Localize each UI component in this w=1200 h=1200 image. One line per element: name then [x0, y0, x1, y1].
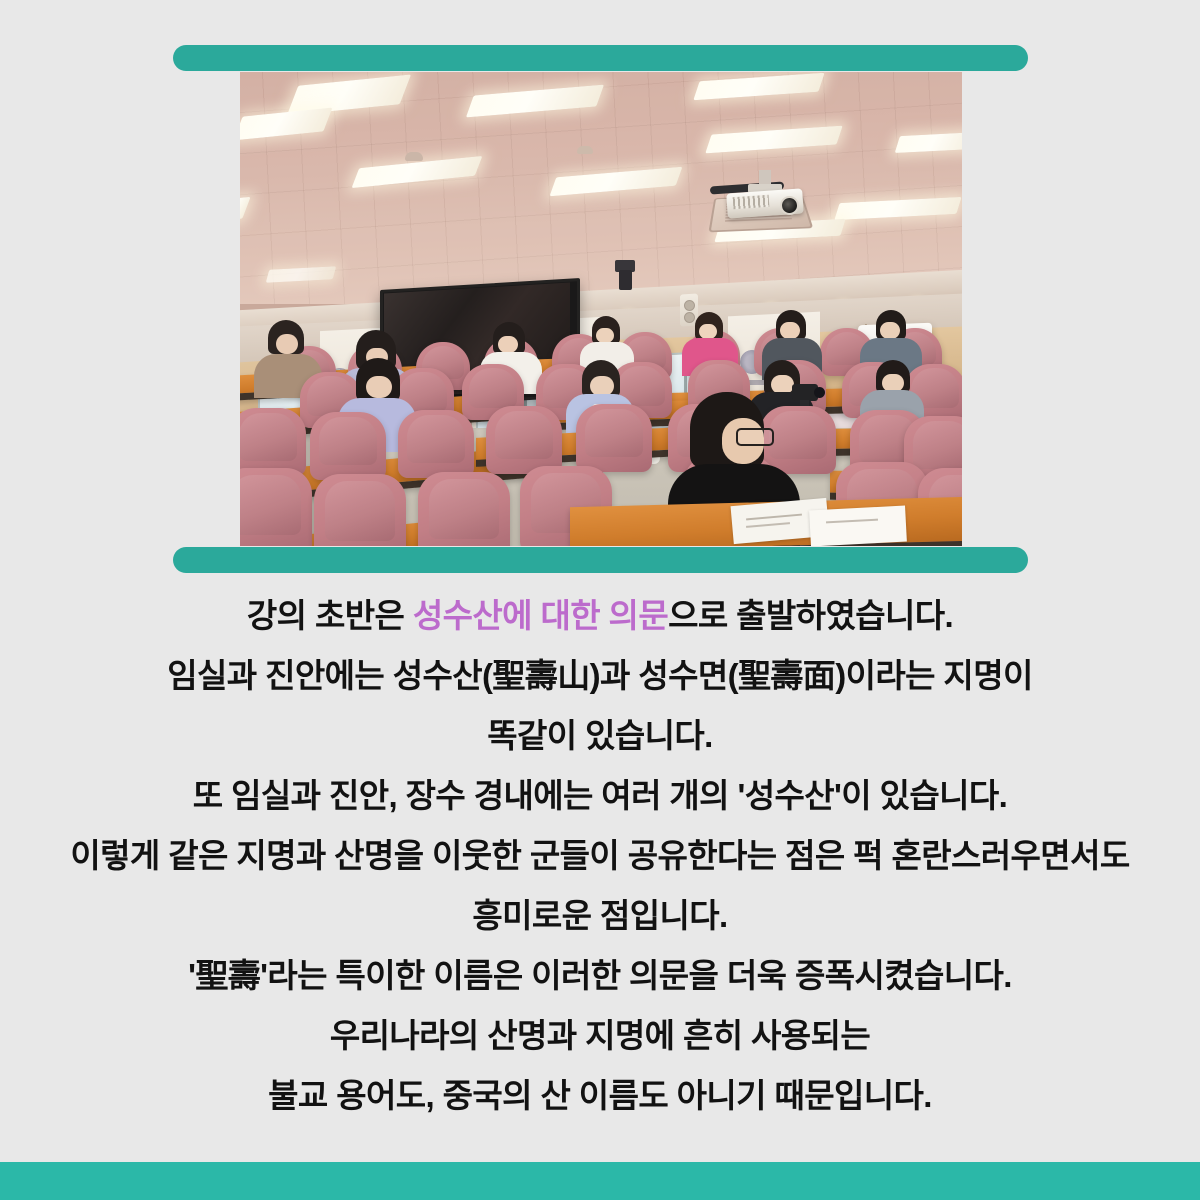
caption-segment: 이렇게 같은 지명과 산명을 이웃한 군들이 공유한다는 점은 퍽 혼란스러우면…	[70, 837, 1129, 874]
caption-line-3: 똑같이 있습니다.	[0, 706, 1200, 766]
chair	[418, 472, 510, 546]
caption-segment: 흥미로운 점입니다.	[472, 897, 727, 934]
caption-line-1: 강의 초반은 성수산에 대한 의문으로 출발하였습니다.	[0, 586, 1200, 646]
speaker-cone-icon	[684, 300, 695, 311]
projector-vent	[733, 195, 770, 209]
chair	[240, 408, 306, 476]
person-face	[780, 322, 800, 339]
caption-segment: 강의 초반은	[247, 597, 413, 634]
person-face	[699, 324, 717, 339]
caption-line-7: '聖壽'라는 특이한 이름은 이러한 의문을 더욱 증폭시켰습니다.	[0, 946, 1200, 1006]
caption-segment: '聖壽'라는 특이한 이름은 이러한 의문을 더욱 증폭시켰습니다.	[188, 957, 1012, 994]
person-face	[498, 336, 518, 353]
bottom-teal-band	[0, 1162, 1200, 1200]
chair	[486, 406, 562, 474]
caption-line-2: 임실과 진안에는 성수산(聖壽山)과 성수면(聖壽面)이라는 지명이	[0, 646, 1200, 706]
caption-segment: 불교 용어도, 중국의 산 이름도 아니기 때문입니다.	[268, 1077, 932, 1114]
chair	[398, 410, 474, 478]
caption-segment: 임실과 진안에는 성수산(聖壽山)과 성수면(聖壽面)이라는 지명이	[167, 657, 1032, 694]
caption-line-5: 이렇게 같은 지명과 산명을 이웃한 군들이 공유한다는 점은 퍽 혼란스러우면…	[0, 826, 1200, 886]
chair	[240, 468, 312, 546]
ceiling-light	[895, 132, 962, 153]
caption-line-8: 우리나라의 산명과 지명에 흔히 사용되는	[0, 1006, 1200, 1066]
person-face	[590, 376, 614, 396]
person-face	[880, 322, 900, 339]
camera-lens-icon	[814, 387, 825, 398]
lecture-hall-photo	[240, 72, 962, 546]
chair	[314, 474, 406, 546]
card-slide: 강의 초반은 성수산에 대한 의문으로 출발하였습니다. 임실과 진안에는 성수…	[0, 0, 1200, 1200]
eyeglasses-icon	[736, 428, 774, 446]
person-face	[366, 376, 392, 398]
caption-line-9: 불교 용어도, 중국의 산 이름도 아니기 때문입니다.	[0, 1066, 1200, 1126]
top-accent-bar	[173, 45, 1028, 71]
person-face	[276, 334, 298, 354]
caption-segment: 우리나라의 산명과 지명에 흔히 사용되는	[330, 1017, 870, 1054]
caption-line-6: 흥미로운 점입니다.	[0, 886, 1200, 946]
smoke-detector-icon	[405, 152, 423, 161]
bottom-accent-bar	[173, 547, 1028, 573]
caption-highlight: 성수산에 대한 의문	[413, 597, 668, 634]
smoke-detector-icon	[577, 146, 593, 154]
person-face	[596, 328, 614, 343]
chair	[310, 412, 386, 480]
caption-segment: 으로 출발하였습니다.	[668, 597, 953, 634]
caption-text-block: 강의 초반은 성수산에 대한 의문으로 출발하였습니다. 임실과 진안에는 성수…	[0, 586, 1200, 1126]
caption-segment: 똑같이 있습니다.	[487, 717, 712, 754]
caption-segment: 또 임실과 진안, 장수 경내에는 여러 개의 '성수산'이 있습니다.	[193, 777, 1007, 814]
speaker-cone-icon	[684, 312, 695, 323]
caption-line-4: 또 임실과 진안, 장수 경내에는 여러 개의 '성수산'이 있습니다.	[0, 766, 1200, 826]
paper-document	[809, 506, 907, 546]
ceiling-bracket-arm	[619, 270, 632, 290]
chair	[576, 404, 652, 472]
